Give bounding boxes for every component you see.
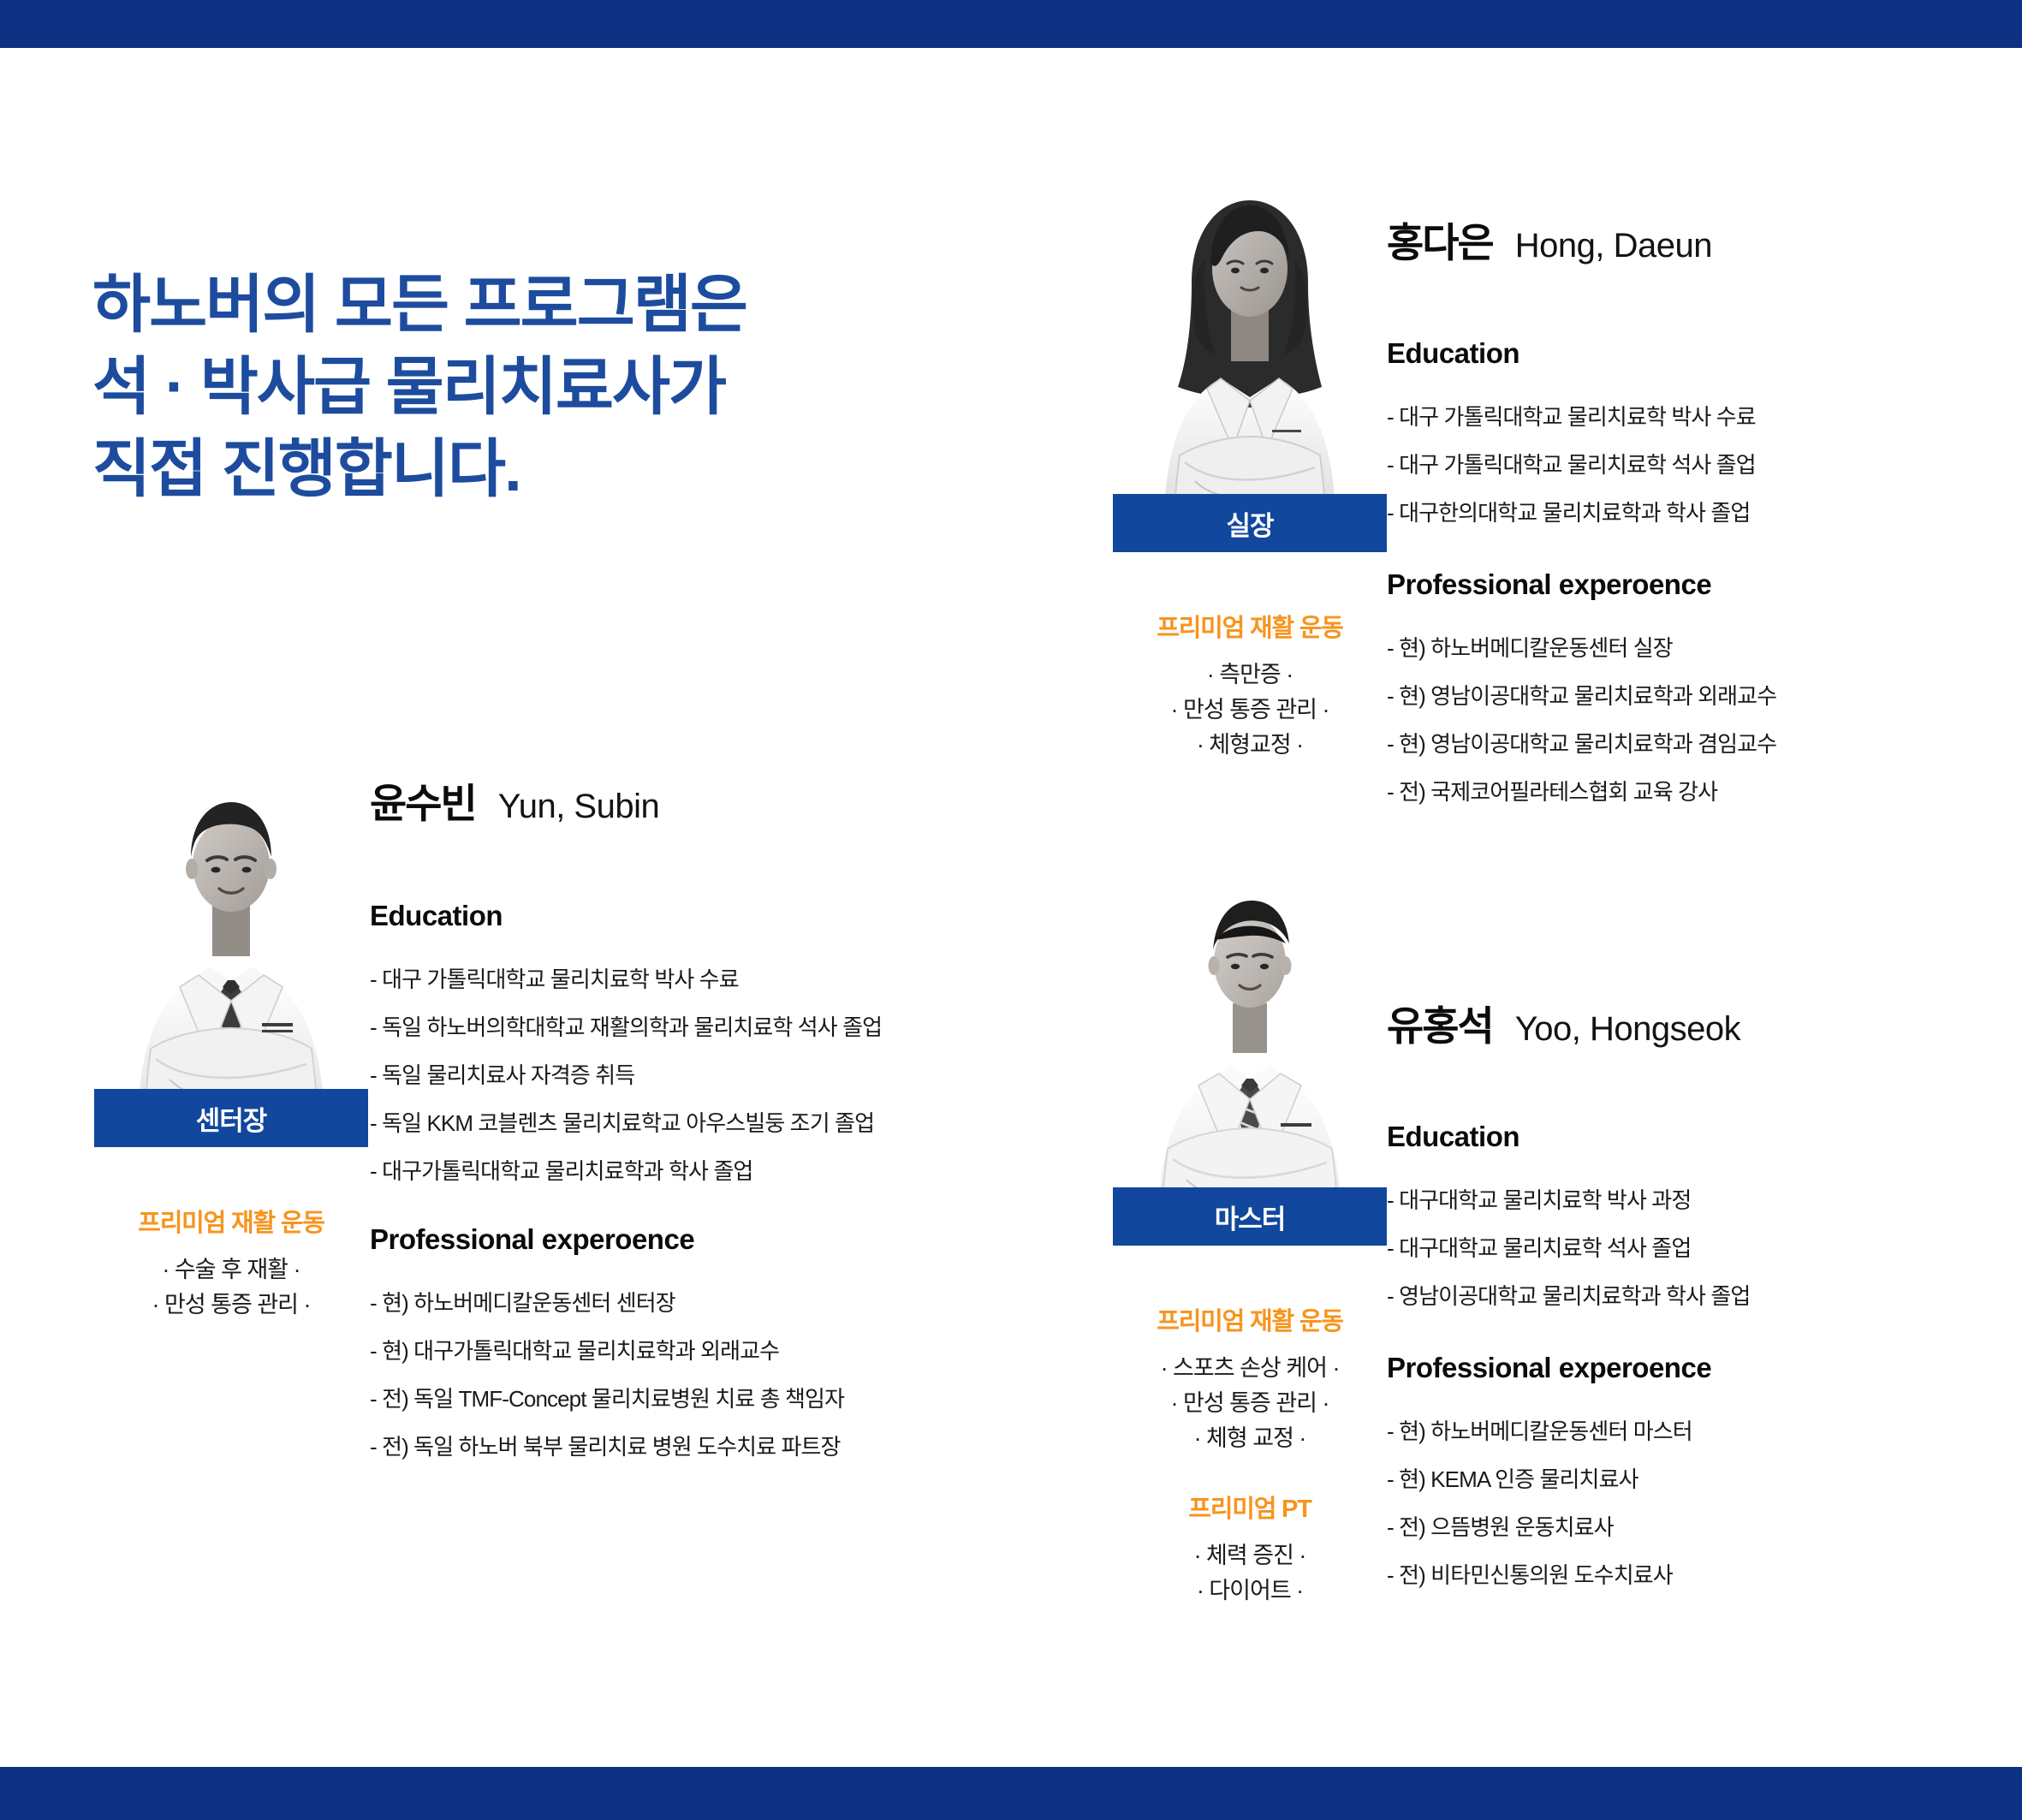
specialty-item: · 다이어트 · <box>1113 1573 1387 1609</box>
portrait-photo-yun-subin <box>94 775 368 1117</box>
specialty-title: 프리미엄 재활 운동 <box>1113 608 1387 644</box>
experience-heading: Professional experoence <box>1387 1352 1750 1384</box>
name-korean: 윤수빈 <box>370 770 476 830</box>
education-heading: Education <box>1387 337 1776 370</box>
specialty-group-hong-daeun: 프리미엄 재활 운동 · 측만증 · · 만성 통증 관리 · · 체형교정 · <box>1113 608 1387 763</box>
list-item: - 현) KEMA 인증 물리치료사 <box>1387 1468 1750 1490</box>
photo-column-yun-subin: 센터장 프리미엄 재활 운동 · 수술 후 재활 · · 만성 통증 관리 · <box>94 775 368 1117</box>
profile-name-yoo-hongseok: 유홍석 Yoo, Hongseok <box>1387 993 1750 1052</box>
name-english: Yoo, Hongseok <box>1515 1010 1740 1049</box>
list-item: - 현) 하노버메디칼운동센터 실장 <box>1387 637 1776 659</box>
name-english: Hong, Daeun <box>1515 227 1712 265</box>
list-item: - 대구대학교 물리치료학 박사 과정 <box>1387 1189 1750 1211</box>
specialty-title: 프리미엄 재활 운동 <box>94 1203 368 1239</box>
name-korean: 유홍석 <box>1387 993 1493 1052</box>
specialty-title: 프리미엄 PT <box>1113 1489 1387 1525</box>
page-headline: 하노버의 모든 프로그램은 석 · 박사급 물리치료사가 직접 진행합니다. <box>92 264 746 511</box>
experience-heading: Professional experoence <box>370 1223 882 1256</box>
list-item: - 전) 독일 하노버 북부 물리치료 병원 도수치료 파트장 <box>370 1436 882 1458</box>
list-item: - 대구 가톨릭대학교 물리치료학 박사 수료 <box>370 968 882 990</box>
role-badge-yun-subin: 센터장 <box>94 1089 368 1147</box>
specialty-item: · 체형 교정 · <box>1113 1421 1387 1456</box>
specialty-item: · 체형교정 · <box>1113 728 1387 763</box>
experience-list-hong-daeun: - 현) 하노버메디칼운동센터 실장 - 현) 영남이공대학교 물리치료학과 외… <box>1387 637 1776 803</box>
list-item: - 대구 가톨릭대학교 물리치료학 석사 졸업 <box>1387 454 1776 476</box>
list-item: - 전) 독일 TMF-Concept 물리치료병원 치료 총 책임자 <box>370 1388 882 1410</box>
specialty-group-yun-subin: 프리미엄 재활 운동 · 수술 후 재활 · · 만성 통증 관리 · <box>94 1203 368 1323</box>
specialty-block: 프리미엄 재활 운동 · 측만증 · · 만성 통증 관리 · · 체형교정 · <box>1113 608 1387 763</box>
list-item: - 대구한의대학교 물리치료학과 학사 졸업 <box>1387 502 1776 524</box>
photo-column-hong-daeun: 실장 프리미엄 재활 운동 · 측만증 · · 만성 통증 관리 · · 체형교… <box>1113 180 1387 522</box>
experience-heading: Professional experoence <box>1387 568 1776 601</box>
info-column-hong-daeun: 홍다은 Hong, Daeun Education - 대구 가톨릭대학교 물리… <box>1387 210 1776 829</box>
list-item: - 현) 영남이공대학교 물리치료학과 외래교수 <box>1387 685 1776 707</box>
name-english: Yun, Subin <box>498 788 660 826</box>
experience-list-yun-subin: - 현) 하노버메디칼운동센터 센터장 - 현) 대구가톨릭대학교 물리치료학과… <box>370 1292 882 1458</box>
education-list-yoo-hongseok: - 대구대학교 물리치료학 박사 과정 - 대구대학교 물리치료학 석사 졸업 … <box>1387 1189 1750 1307</box>
specialty-item: · 측만증 · <box>1113 657 1387 693</box>
list-item: - 현) 하노버메디칼운동센터 센터장 <box>370 1292 882 1314</box>
list-item: - 독일 하노버의학대학교 재활의학과 물리치료학 석사 졸업 <box>370 1016 882 1038</box>
name-korean: 홍다은 <box>1387 210 1493 269</box>
education-heading: Education <box>1387 1121 1750 1153</box>
specialty-block: 프리미엄 재활 운동 · 수술 후 재활 · · 만성 통증 관리 · <box>94 1203 368 1323</box>
list-item: - 현) 대구가톨릭대학교 물리치료학과 외래교수 <box>370 1340 882 1362</box>
list-item: - 대구 가톨릭대학교 물리치료학 박사 수료 <box>1387 406 1776 428</box>
info-column-yoo-hongseok: 유홍석 Yoo, Hongseok Education - 대구대학교 물리치료… <box>1387 993 1750 1612</box>
role-badge-hong-daeun: 실장 <box>1113 494 1387 552</box>
specialty-item: · 체력 증진 · <box>1113 1538 1387 1573</box>
list-item: - 전) 국제코어필라테스협회 교육 강사 <box>1387 781 1776 803</box>
specialty-item: · 스포츠 손상 케어 · <box>1113 1351 1387 1386</box>
specialty-title: 프리미엄 재활 운동 <box>1113 1301 1387 1337</box>
list-item: - 전) 으뜸병원 운동치료사 <box>1387 1516 1750 1538</box>
photo-column-yoo-hongseok: 마스터 프리미엄 재활 운동 · 스포츠 손상 케어 · · 만성 통증 관리 … <box>1113 873 1387 1216</box>
profile-name-hong-daeun: 홍다은 Hong, Daeun <box>1387 210 1776 269</box>
list-item: - 현) 하노버메디칼운동센터 마스터 <box>1387 1420 1750 1442</box>
top-accent-bar <box>0 0 2022 48</box>
list-item: - 현) 영남이공대학교 물리치료학과 겸임교수 <box>1387 733 1776 755</box>
role-badge-yoo-hongseok: 마스터 <box>1113 1187 1387 1246</box>
bottom-accent-bar <box>0 1767 2022 1820</box>
specialty-item: · 만성 통증 관리 · <box>94 1288 368 1323</box>
specialty-block: 프리미엄 PT · 체력 증진 · · 다이어트 · <box>1113 1489 1387 1609</box>
specialty-group-yoo-hongseok: 프리미엄 재활 운동 · 스포츠 손상 케어 · · 만성 통증 관리 · · … <box>1113 1301 1387 1609</box>
list-item: - 독일 KKM 코블렌츠 물리치료학교 아우스빌둥 조기 졸업 <box>370 1112 882 1134</box>
list-item: - 영남이공대학교 물리치료학과 학사 졸업 <box>1387 1285 1750 1307</box>
info-column-yun-subin: 윤수빈 Yun, Subin Education - 대구 가톨릭대학교 물리치… <box>370 770 882 1484</box>
education-heading: Education <box>370 900 882 932</box>
portrait-photo-hong-daeun <box>1113 180 1387 522</box>
profile-name-yun-subin: 윤수빈 Yun, Subin <box>370 770 882 830</box>
education-list-hong-daeun: - 대구 가톨릭대학교 물리치료학 박사 수료 - 대구 가톨릭대학교 물리치료… <box>1387 406 1776 524</box>
list-item: - 전) 비타민신통의원 도수치료사 <box>1387 1564 1750 1586</box>
specialty-block: 프리미엄 재활 운동 · 스포츠 손상 케어 · · 만성 통증 관리 · · … <box>1113 1301 1387 1456</box>
list-item: - 대구대학교 물리치료학 석사 졸업 <box>1387 1237 1750 1259</box>
education-list-yun-subin: - 대구 가톨릭대학교 물리치료학 박사 수료 - 독일 하노버의학대학교 재활… <box>370 968 882 1182</box>
list-item: - 대구가톨릭대학교 물리치료학과 학사 졸업 <box>370 1160 882 1182</box>
specialty-item: · 만성 통증 관리 · <box>1113 1386 1387 1421</box>
experience-list-yoo-hongseok: - 현) 하노버메디칼운동센터 마스터 - 현) KEMA 인증 물리치료사 -… <box>1387 1420 1750 1586</box>
specialty-item: · 수술 후 재활 · <box>94 1252 368 1288</box>
list-item: - 독일 물리치료사 자격증 취득 <box>370 1064 882 1086</box>
portrait-photo-yoo-hongseok <box>1113 873 1387 1216</box>
specialty-item: · 만성 통증 관리 · <box>1113 693 1387 728</box>
